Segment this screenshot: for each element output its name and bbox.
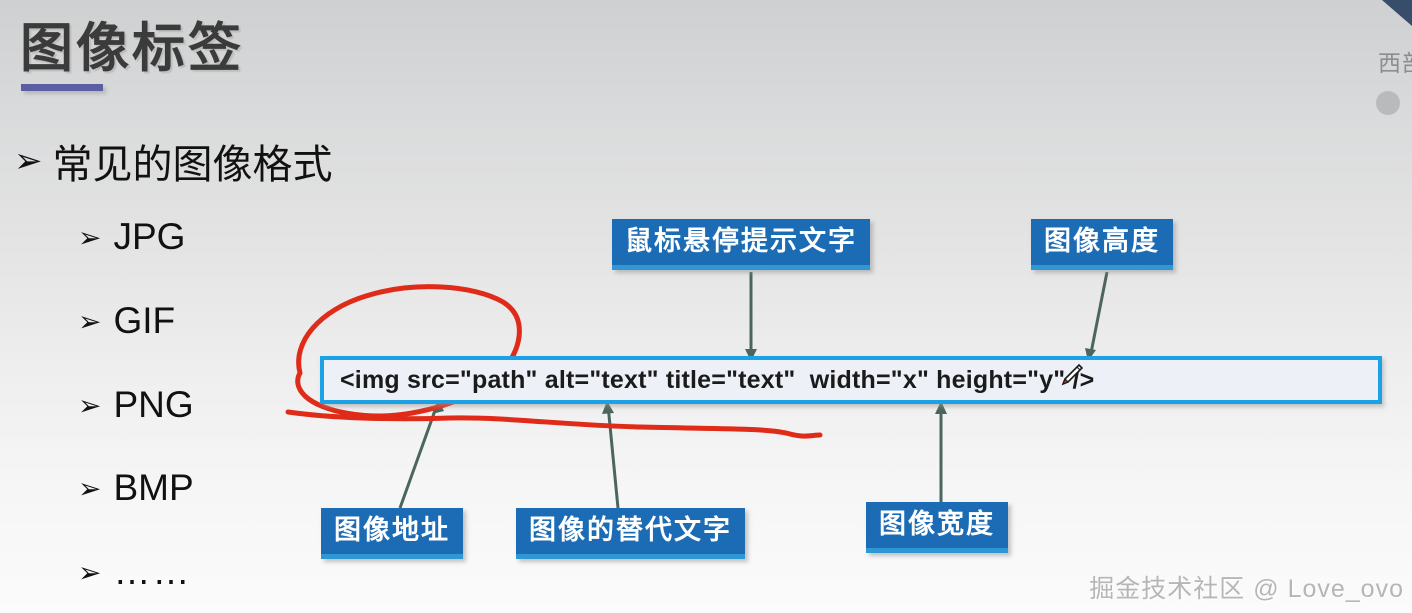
code-snippet-text: <img src="path" alt="text" title="text" … <box>324 366 1094 395</box>
bullet-label: JPG <box>113 216 185 258</box>
bullet-label: BMP <box>113 467 193 509</box>
organization-name: 西部 <box>1378 44 1412 78</box>
callout-src-attribute: 图像地址 <box>321 508 463 559</box>
slide-canvas: 西部 图像标签 ➢ 常见的图像格式 ➢ JPG ➢ GIF ➢ PNG ➢ BM… <box>0 0 1412 613</box>
corner-triangle-decoration <box>1382 0 1412 26</box>
connector-height <box>1090 272 1107 358</box>
bullet-item-gif: ➢ GIF <box>78 300 175 342</box>
arrow-bullet-icon: ➢ <box>78 556 101 589</box>
arrow-bullet-icon: ➢ <box>78 389 101 422</box>
connector-src <box>400 405 437 508</box>
bullet-label: 常见的图像格式 <box>53 132 333 190</box>
bullet-item-main: ➢ 常见的图像格式 <box>14 132 333 190</box>
bullet-item-png: ➢ PNG <box>78 384 194 426</box>
code-snippet-box: <img src="path" alt="text" title="text" … <box>320 356 1382 404</box>
callout-alt-attribute: 图像的替代文字 <box>516 508 745 559</box>
bullet-label: GIF <box>113 300 175 342</box>
title-underline-bar <box>21 84 103 91</box>
pen-cursor-icon <box>1058 362 1084 388</box>
arrow-bullet-icon: ➢ <box>78 221 101 254</box>
red-underline-annotation <box>288 412 820 436</box>
corner-dot-decoration <box>1376 91 1400 115</box>
connector-alt <box>608 405 618 508</box>
bullet-item-bmp: ➢ BMP <box>78 467 194 509</box>
bullet-label: …… <box>113 551 191 593</box>
callout-title-attribute: 鼠标悬停提示文字 <box>612 219 870 270</box>
arrow-bullet-icon: ➢ <box>78 305 101 338</box>
page-title: 图像标签 <box>20 6 244 82</box>
bullet-item-jpg: ➢ JPG <box>78 216 185 258</box>
bullet-label: PNG <box>113 384 193 426</box>
arrow-bullet-icon: ➢ <box>14 141 43 181</box>
bullet-item-ellipsis: ➢ …… <box>78 551 191 593</box>
callout-width-attribute: 图像宽度 <box>866 502 1008 553</box>
callout-height-attribute: 图像高度 <box>1031 219 1173 270</box>
watermark: 掘金技术社区 @ Love_ovo <box>1089 569 1404 605</box>
arrow-bullet-icon: ➢ <box>78 472 101 505</box>
